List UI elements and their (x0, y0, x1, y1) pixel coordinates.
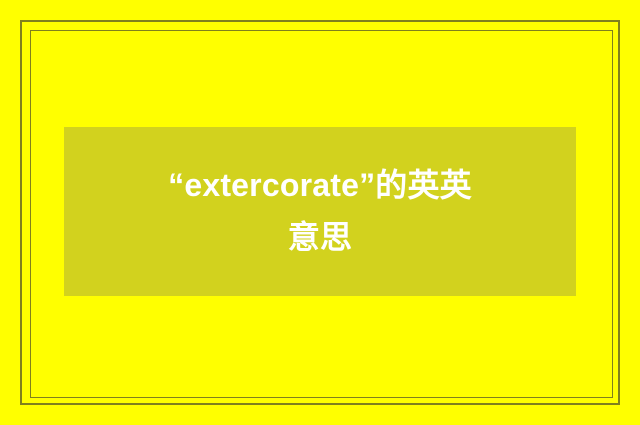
title-card: “extercorate”的英英意思 (64, 127, 576, 296)
page-canvas: “extercorate”的英英意思 (0, 0, 640, 425)
page-title: “extercorate”的英英意思 (165, 160, 475, 264)
